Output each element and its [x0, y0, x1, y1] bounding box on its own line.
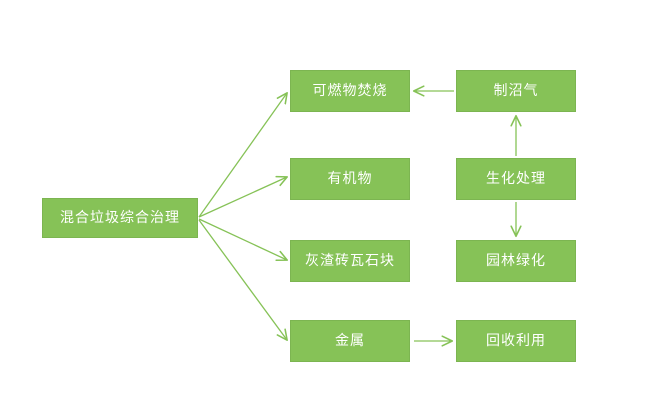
node-recycling[interactable]: 回收利用	[456, 320, 576, 362]
node-label: 园林绿化	[486, 254, 546, 268]
node-label: 回收利用	[486, 334, 546, 348]
node-label: 有机物	[328, 172, 373, 186]
node-label: 可燃物焚烧	[313, 84, 388, 98]
flowchart-canvas: 混合垃圾综合治理 可燃物焚烧 有机物 灰渣砖瓦石块 金属 制沼气 生化处理 园林…	[0, 0, 648, 416]
node-combustible-incineration[interactable]: 可燃物焚烧	[290, 70, 410, 112]
edge-source-to-organic	[199, 177, 287, 217]
edge-source-to-metal	[199, 220, 287, 340]
edge-source-to-ash	[199, 219, 287, 260]
node-label: 生化处理	[486, 172, 546, 186]
node-source-mixed-waste[interactable]: 混合垃圾综合治理	[42, 198, 198, 238]
node-metal[interactable]: 金属	[290, 320, 410, 362]
node-biochemical-treatment[interactable]: 生化处理	[456, 158, 576, 200]
node-landscaping[interactable]: 园林绿化	[456, 240, 576, 282]
node-organic-matter[interactable]: 有机物	[290, 158, 410, 200]
node-ash-brick-tile-stone[interactable]: 灰渣砖瓦石块	[290, 240, 410, 282]
node-source-label: 混合垃圾综合治理	[60, 211, 180, 225]
node-biogas-production[interactable]: 制沼气	[456, 70, 576, 112]
edge-source-to-combustible	[199, 93, 287, 217]
node-label: 灰渣砖瓦石块	[305, 254, 395, 268]
node-label: 制沼气	[494, 84, 539, 98]
node-label: 金属	[335, 334, 365, 348]
